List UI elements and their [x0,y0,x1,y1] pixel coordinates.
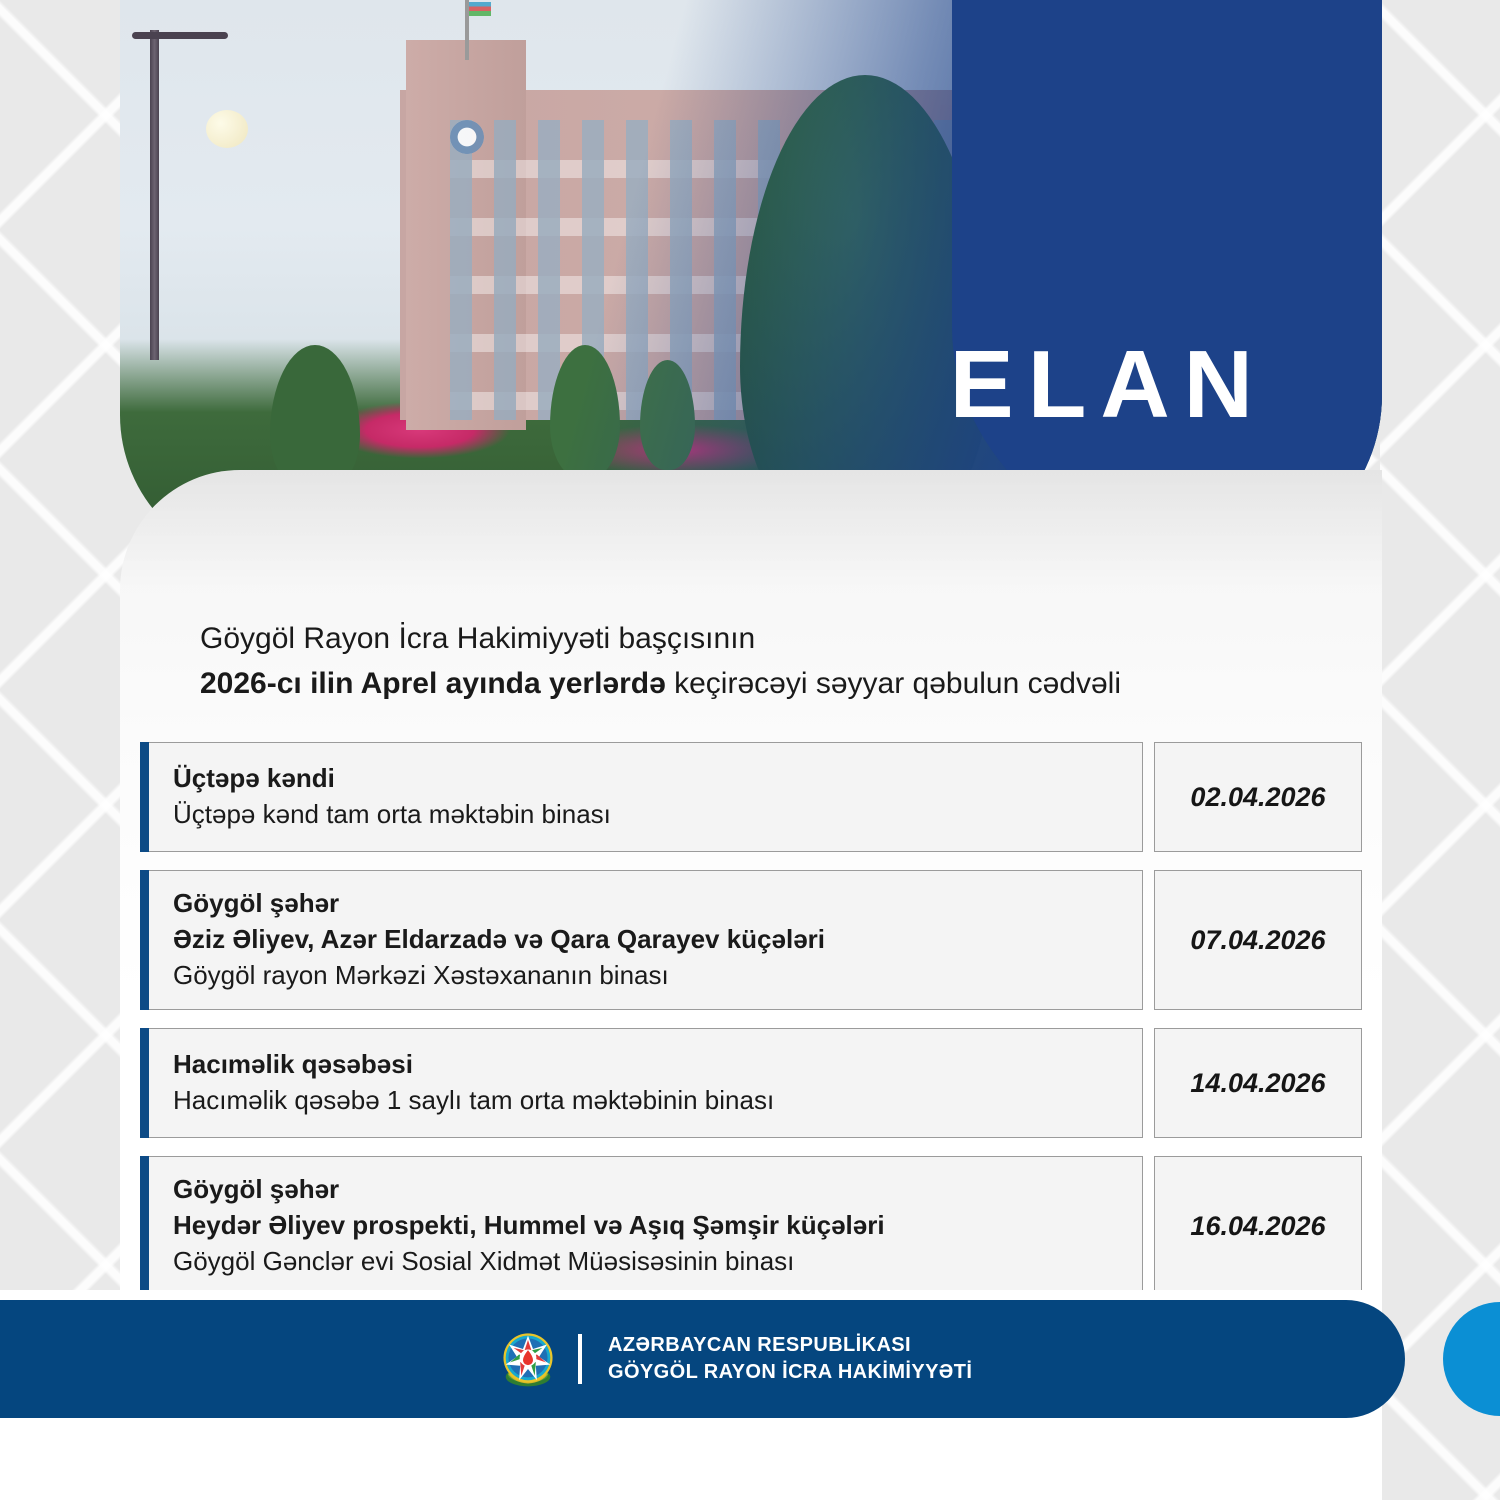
title-line-1: Göygöl Rayon İcra Hakimiyyəti başçısının [200,617,1320,661]
elan-badge-label: ELAN [950,337,1267,433]
row-date-cell: 14.04.2026 [1154,1028,1362,1138]
row-location-name: Əziz Əliyev, Azər Eldarzadə və Qara Qara… [173,921,1120,957]
title-line-2-bold: 2026-cı ilin Aprel ayında yerlərdə [200,667,666,700]
row-location-cell: Üçtəpə kəndiÜçtəpə kənd tam orta məktəbi… [149,742,1143,852]
title-line-2-rest: keçirəcəyi səyyar qəbulun cədvəli [666,667,1121,700]
row-location-name: Üçtəpə kəndi [173,760,1120,796]
footer-organization: AZƏRBAYCAN RESPUBLİKASI GÖYGÖL RAYON İCR… [608,1332,972,1386]
row-accent-bar [140,742,149,852]
row-location-cell: Göygöl şəhərHeydər Əliyev prospekti, Hum… [149,1156,1143,1296]
row-venue-name: Göygöl Gənclər evi Sosial Xidmət Müəsisə… [173,1243,1120,1279]
row-location-name: Heydər Əliyev prospekti, Hummel və Aşıq … [173,1207,1120,1243]
announcement-title: Göygöl Rayon İcra Hakimiyyəti başçısının… [200,617,1320,707]
schedule-row: Göygöl şəhərHeydər Əliyev prospekti, Hum… [140,1156,1362,1296]
row-location-cell: Hacıməlik qəsəbəsiHacıməlik qəsəbə 1 say… [149,1028,1143,1138]
row-date-cell: 16.04.2026 [1154,1156,1362,1296]
row-accent-bar [140,870,149,1010]
row-location-name: Göygöl şəhər [173,885,1120,921]
row-venue-name: Üçtəpə kənd tam orta məktəbin binası [173,796,1120,832]
row-date-cell: 02.04.2026 [1154,742,1362,852]
azerbaijan-state-emblem-icon [500,1330,556,1388]
schedule-row: Üçtəpə kəndiÜçtəpə kənd tam orta məktəbi… [140,742,1362,852]
footer-divider [578,1334,582,1384]
row-venue-name: Göygöl rayon Mərkəzi Xəstəxananın binası [173,957,1120,993]
footer-bar: AZƏRBAYCAN RESPUBLİKASI GÖYGÖL RAYON İCR… [0,1300,1405,1418]
row-venue-name: Hacıməlik qəsəbə 1 saylı tam orta məktəb… [173,1082,1120,1118]
schedule-table: Üçtəpə kəndiÜçtəpə kənd tam orta məktəbi… [140,742,1362,1314]
row-accent-bar [140,1156,149,1296]
row-accent-bar [140,1028,149,1138]
footer-org-line-2: GÖYGÖL RAYON İCRA HAKİMİYYƏTİ [608,1359,972,1386]
row-location-name: Hacıməlik qəsəbəsi [173,1046,1120,1082]
title-line-2: 2026-cı ilin Aprel ayında yerlərdə keçir… [200,661,1320,707]
row-location-cell: Göygöl şəhərƏziz Əliyev, Azər Eldarzadə … [149,870,1143,1010]
row-location-name: Göygöl şəhər [173,1171,1120,1207]
footer-org-line-1: AZƏRBAYCAN RESPUBLİKASI [608,1332,972,1359]
schedule-row: Hacıməlik qəsəbəsiHacıməlik qəsəbə 1 say… [140,1028,1362,1138]
row-date-cell: 07.04.2026 [1154,870,1362,1010]
schedule-row: Göygöl şəhərƏziz Əliyev, Azər Eldarzadə … [140,870,1362,1010]
